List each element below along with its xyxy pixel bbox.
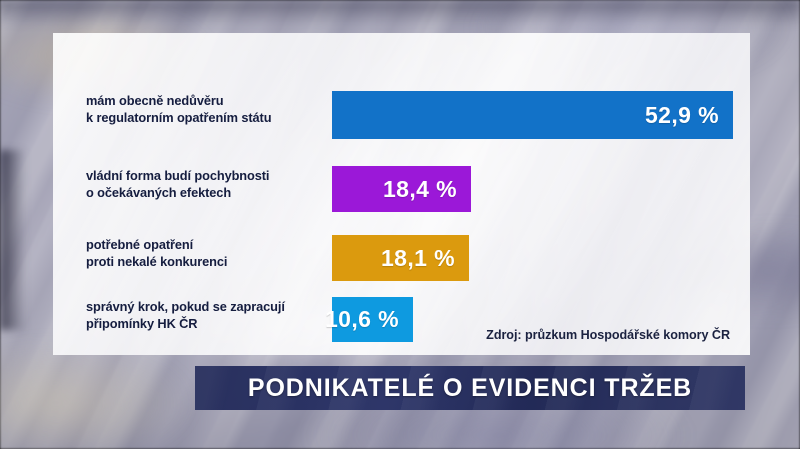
bar-value-label: 52,9 % bbox=[645, 102, 733, 129]
bar: 10,6 % bbox=[332, 297, 413, 342]
background-top-shadow bbox=[0, 0, 800, 26]
bar-category-label: potřebné opatření proti nekalé konkurenc… bbox=[86, 237, 331, 271]
bar: 18,4 % bbox=[332, 166, 471, 212]
bar-category-label: správný krok, pokud se zapracují připomí… bbox=[86, 299, 331, 333]
chart-panel: mám obecně nedůvěru k regulatorním opatř… bbox=[53, 33, 750, 355]
bar-category-label: vládní forma budí pochybnosti o očekávan… bbox=[86, 168, 331, 202]
page-title: PODNIKATELÉ O EVIDENCI TRŽEB bbox=[248, 374, 692, 403]
bar-category-label: mám obecně nedůvěru k regulatorním opatř… bbox=[86, 93, 331, 127]
infographic-slide: mám obecně nedůvěru k regulatorním opatř… bbox=[0, 0, 800, 449]
title-banner: PODNIKATELÉ O EVIDENCI TRŽEB bbox=[195, 366, 745, 410]
background-left-shadow bbox=[0, 150, 26, 330]
source-attribution: Zdroj: průzkum Hospodářské komory ČR bbox=[486, 328, 730, 342]
bar: 18,1 % bbox=[332, 235, 469, 281]
bar-chart: mám obecně nedůvěru k regulatorním opatř… bbox=[53, 33, 750, 355]
bar-value-label: 10,6 % bbox=[325, 306, 413, 333]
bar: 52,9 % bbox=[332, 91, 733, 139]
bar-value-label: 18,1 % bbox=[381, 245, 469, 272]
bar-value-label: 18,4 % bbox=[383, 176, 471, 203]
